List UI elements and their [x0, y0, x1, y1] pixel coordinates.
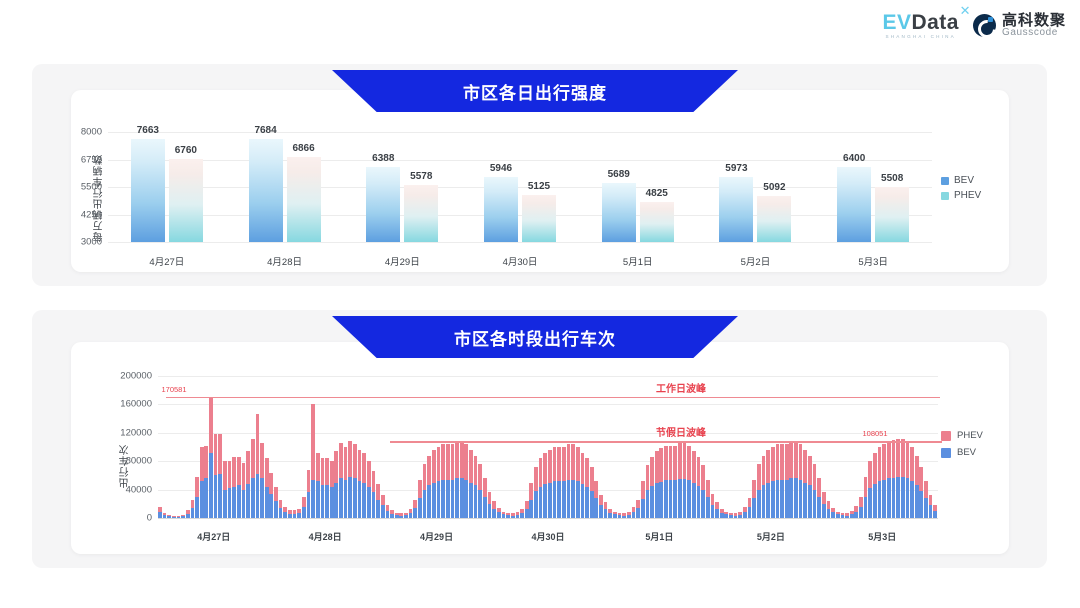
chart2-stacked-bar[interactable]: [878, 447, 882, 518]
chart2-segment-bev: [655, 483, 659, 518]
chart1-legend-item[interactable]: BEV: [941, 175, 981, 186]
chart2-segment-phev: [910, 447, 914, 481]
chart1-gridline: [108, 132, 932, 133]
chart2-stacked-bar[interactable]: [701, 465, 705, 518]
chart2-stacked-bar[interactable]: [204, 446, 208, 518]
chart2-segment-bev: [878, 481, 882, 518]
chart2-segment-phev: [474, 456, 478, 486]
chart2-stacked-bar[interactable]: [358, 450, 362, 518]
chart2-stacked-bar[interactable]: [836, 512, 840, 518]
chart2-stacked-bar[interactable]: [919, 467, 923, 518]
chart2-segment-bev: [571, 480, 575, 518]
chart2-stacked-bar[interactable]: [483, 478, 487, 518]
chart2-segment-bev: [246, 484, 250, 518]
chart1-y-tick: 4250: [62, 209, 102, 220]
chart2-stacked-bar[interactable]: [850, 511, 854, 518]
chart2-segment-bev: [288, 514, 292, 518]
chart2-stacked-bar[interactable]: [181, 515, 185, 518]
chart2-segment-phev: [873, 453, 877, 484]
chart1-bar-phev[interactable]: 6760: [169, 159, 203, 242]
chart2-segment-bev: [543, 484, 547, 518]
chart2-stacked-bar[interactable]: [423, 464, 427, 518]
chart2-stacked-bar[interactable]: [636, 500, 640, 518]
chart2-stacked-bar[interactable]: [269, 473, 273, 518]
chart2-segment-bev: [831, 512, 835, 518]
chart1-x-tick: 4月29日: [385, 254, 420, 268]
chart2-stacked-bar[interactable]: [334, 451, 338, 518]
chart2-stacked-bar[interactable]: [330, 461, 334, 518]
chart2-stacked-bar[interactable]: [864, 477, 868, 518]
chart2-stacked-bar[interactable]: [738, 512, 742, 518]
chart1-bar-phev[interactable]: 5578: [404, 185, 438, 242]
chart2-segment-phev: [214, 434, 218, 476]
chart2-segment-phev: [483, 478, 487, 496]
chart2-stacked-bar[interactable]: [451, 444, 455, 518]
chart2-stacked-bar[interactable]: [720, 509, 724, 518]
chart2-segment-bev: [539, 487, 543, 518]
chart1-bar-phev[interactable]: 5508: [875, 187, 909, 242]
chart2-stacked-bar[interactable]: [534, 467, 538, 518]
chart2-stacked-bar[interactable]: [399, 513, 403, 518]
chart2-segment-bev: [915, 485, 919, 518]
chart2-stacked-bar[interactable]: [460, 441, 464, 518]
chart1-bar-phev[interactable]: 4825: [640, 202, 674, 242]
chart2-stacked-bar[interactable]: [441, 444, 445, 518]
chart2-stacked-bar[interactable]: [808, 456, 812, 518]
chart2-stacked-bar[interactable]: [353, 444, 357, 518]
chart2-segment-phev: [706, 480, 710, 498]
chart2-stacked-bar[interactable]: [432, 450, 436, 518]
chart2-segment-phev: [664, 446, 668, 481]
chart2-stacked-bar[interactable]: [195, 477, 199, 518]
chart2-stacked-bar[interactable]: [613, 512, 617, 518]
chart2-stacked-bar[interactable]: [748, 498, 752, 518]
chart2-stacked-bar[interactable]: [469, 450, 473, 518]
chart2-stacked-bar[interactable]: [687, 446, 691, 518]
chart2-segment-phev: [887, 441, 891, 478]
chart2-stacked-bar[interactable]: [567, 444, 571, 518]
chart2-stacked-bar[interactable]: [307, 470, 311, 518]
chart2-stacked-bar[interactable]: [581, 453, 585, 518]
chart2-segment-phev: [437, 447, 441, 481]
chart2-stacked-bar[interactable]: [506, 513, 510, 518]
chart2-stacked-bar[interactable]: [780, 444, 784, 518]
chart2-stacked-bar[interactable]: [209, 397, 213, 518]
chart2-segment-bev: [334, 483, 338, 519]
chart2-segment-bev: [395, 515, 399, 518]
gausscode-name-en: Gausscode: [1002, 28, 1066, 39]
chart2-stacked-bar[interactable]: [766, 450, 770, 518]
chart2-segment-bev: [446, 480, 450, 518]
chart2-segment-phev: [539, 458, 543, 486]
chart2-stacked-bar[interactable]: [427, 456, 431, 518]
chart2-stacked-bar[interactable]: [529, 483, 533, 519]
chart2-stacked-bar[interactable]: [404, 513, 408, 518]
chart2-stacked-bar[interactable]: [283, 507, 287, 518]
chart2-stacked-bar[interactable]: [492, 501, 496, 518]
chart2-stacked-bar[interactable]: [785, 444, 789, 518]
chart2-segment-bev: [437, 481, 441, 518]
chart2-x-tick: 5月1日: [645, 530, 673, 543]
chart2-segment-phev: [590, 467, 594, 491]
chart2-stacked-bar[interactable]: [678, 443, 682, 518]
chart2-stacked-bar[interactable]: [497, 508, 501, 518]
chart2-stacked-bar[interactable]: [376, 484, 380, 518]
chart1-bar-value: 5508: [881, 173, 903, 184]
chart2-stacked-bar[interactable]: [511, 513, 515, 518]
chart1-bar-bev[interactable]: 5973: [719, 177, 753, 242]
chart2-stacked-bar[interactable]: [590, 467, 594, 518]
chart2-stacked-bar[interactable]: [896, 438, 900, 518]
chart2-stacked-bar[interactable]: [771, 447, 775, 518]
chart2-segment-phev: [204, 446, 208, 479]
chart2-segment-bev: [460, 478, 464, 518]
chart2-stacked-bar[interactable]: [813, 464, 817, 518]
evdata-suffix: Data: [911, 11, 959, 34]
chart2-segment-phev: [636, 500, 640, 509]
chart2-stacked-bar[interactable]: [650, 457, 654, 518]
chart2-segment-bev: [492, 509, 496, 518]
chart1-bar-phev[interactable]: 5125: [522, 195, 556, 242]
chart2-stacked-bar[interactable]: [279, 500, 283, 518]
chart2-segment-bev: [358, 481, 362, 518]
chart2-stacked-bar[interactable]: [933, 505, 937, 518]
chart2-stacked-bar[interactable]: [260, 443, 264, 518]
chart2-stacked-bar[interactable]: [683, 443, 687, 518]
chart2-stacked-bar[interactable]: [158, 507, 162, 518]
chart2-stacked-bar[interactable]: [915, 456, 919, 518]
chart2-stacked-bar[interactable]: [409, 509, 413, 518]
chart2-segment-phev: [562, 447, 566, 481]
chart1-bar-bev[interactable]: 7684: [249, 139, 283, 242]
chart2-stacked-bar[interactable]: [177, 516, 181, 518]
chart2-stacked-bar[interactable]: [367, 461, 371, 518]
chart2-segment-phev: [330, 461, 334, 487]
chart2-segment-bev: [557, 481, 561, 518]
chart2-stacked-bar[interactable]: [882, 444, 886, 518]
chart2-segment-phev: [794, 441, 798, 478]
chart2-x-tick: 5月3日: [868, 530, 896, 543]
chart2-stacked-bar[interactable]: [715, 502, 719, 518]
chart2-stacked-bar[interactable]: [223, 461, 227, 518]
chart2-stacked-bar[interactable]: [571, 444, 575, 518]
chart2-segment-bev: [608, 513, 612, 518]
chart2-segment-bev: [618, 515, 622, 518]
chart2-segment-bev: [325, 485, 329, 518]
chart2-stacked-bar[interactable]: [873, 453, 877, 518]
chart2-stacked-bar[interactable]: [646, 465, 650, 518]
chart2-stacked-bar[interactable]: [706, 480, 710, 518]
chart2-stacked-bar[interactable]: [789, 441, 793, 518]
chart2-stacked-bar[interactable]: [655, 451, 659, 518]
chart1-bar-phev[interactable]: 5092: [757, 196, 791, 242]
chart2-stacked-bar[interactable]: [395, 513, 399, 518]
chart2-segment-bev: [167, 516, 171, 518]
chart2-stacked-bar[interactable]: [362, 453, 366, 518]
chart2-segment-phev: [543, 453, 547, 484]
chart2-stacked-bar[interactable]: [664, 446, 668, 518]
chart2-stacked-bar[interactable]: [887, 441, 891, 518]
chart2-stacked-bar[interactable]: [576, 447, 580, 518]
chart2-stacked-bar[interactable]: [757, 464, 761, 518]
chart2-stacked-bar[interactable]: [543, 453, 547, 518]
chart2-stacked-bar[interactable]: [186, 510, 190, 518]
chart2-stacked-bar[interactable]: [892, 440, 896, 518]
chart2-stacked-bar[interactable]: [218, 434, 222, 518]
chart2-segment-bev: [283, 512, 287, 518]
chart2-stacked-bar[interactable]: [251, 438, 255, 518]
chart2-stacked-bar[interactable]: [673, 446, 677, 518]
chart2-segment-bev: [859, 507, 863, 518]
chart2-segment-bev: [901, 477, 905, 518]
chart2-segment-bev: [594, 498, 598, 518]
chart2-segment-phev: [334, 451, 338, 482]
chart2-segment-bev: [186, 514, 190, 518]
chart2-segment-bev: [906, 478, 910, 518]
chart2-stacked-bar[interactable]: [297, 509, 301, 518]
chart2-stacked-bar[interactable]: [293, 510, 297, 518]
chart2-legend-item[interactable]: PHEV: [941, 430, 983, 441]
chart1-gridline: [108, 160, 932, 161]
chart2-segment-phev: [604, 502, 608, 509]
chart1-legend-swatch: [941, 192, 949, 200]
chart2-stacked-bar[interactable]: [191, 500, 195, 518]
chart2-stacked-bar[interactable]: [311, 404, 315, 518]
chart2-segment-bev: [817, 497, 821, 518]
chart2-segment-bev: [766, 483, 770, 519]
chart2-stacked-bar[interactable]: [474, 456, 478, 518]
chart2-stacked-bar[interactable]: [734, 513, 738, 518]
chart2-segment-bev: [204, 478, 208, 518]
chart2-holiday-peak-label: 节假日波峰: [656, 424, 706, 439]
chart2-segment-phev: [553, 447, 557, 481]
chart2-stacked-bar[interactable]: [859, 497, 863, 518]
chart2-stacked-bar[interactable]: [553, 447, 557, 518]
chart2-stacked-bar[interactable]: [386, 505, 390, 518]
chart2-segment-phev: [223, 461, 227, 489]
chart2-segment-phev: [683, 443, 687, 479]
chart2-segment-phev: [650, 457, 654, 486]
chart2-stacked-bar[interactable]: [167, 515, 171, 518]
chart2-stacked-bar[interactable]: [831, 508, 835, 518]
chart2-segment-phev: [599, 495, 603, 505]
chart1-bar-value: 4825: [646, 188, 668, 199]
chart2-segment-bev: [451, 480, 455, 518]
chart2-segment-bev: [641, 499, 645, 518]
chart1-bar-bev[interactable]: 5946: [484, 177, 518, 242]
chart2-stacked-bar[interactable]: [288, 510, 292, 518]
chart2-stacked-bar[interactable]: [228, 461, 232, 518]
chart2-segment-bev: [311, 480, 315, 518]
chart2-segment-bev: [604, 509, 608, 518]
chart2-segment-bev: [771, 481, 775, 518]
chart2-stacked-bar[interactable]: [464, 444, 468, 518]
chart2-stacked-bar[interactable]: [622, 513, 626, 518]
chart2-stacked-bar[interactable]: [265, 458, 269, 518]
chart2-segment-phev: [348, 441, 352, 477]
chart2-stacked-bar[interactable]: [325, 458, 329, 518]
chart2-segment-phev: [687, 446, 691, 481]
chart1-bar-bev[interactable]: 6400: [837, 167, 871, 242]
chart2-stacked-bar[interactable]: [803, 450, 807, 518]
chart2-stacked-bar[interactable]: [390, 510, 394, 518]
chart2-stacked-bar[interactable]: [608, 509, 612, 518]
chart1-bar-bev[interactable]: 5689: [602, 183, 636, 242]
chart2-stacked-bar[interactable]: [822, 492, 826, 518]
chart2-segment-bev: [478, 490, 482, 518]
chart2-stacked-bar[interactable]: [743, 507, 747, 518]
chart2-segment-bev: [808, 485, 812, 518]
chart2-stacked-bar[interactable]: [594, 481, 598, 518]
chart2-stacked-bar[interactable]: [799, 444, 803, 518]
chart1-bar-bev[interactable]: 6388: [366, 167, 400, 242]
chart2-stacked-bar[interactable]: [214, 434, 218, 518]
chart2-segment-bev: [529, 500, 533, 518]
chart2-stacked-bar[interactable]: [256, 414, 260, 518]
chart2-stacked-bar[interactable]: [525, 501, 529, 518]
chart2-segment-bev: [734, 516, 738, 518]
chart2-stacked-bar[interactable]: [641, 481, 645, 518]
gausscode-text: 高科数聚 Gausscode: [1002, 13, 1066, 39]
chart2-stacked-bar[interactable]: [344, 447, 348, 518]
chart2-stacked-bar[interactable]: [478, 464, 482, 518]
chart2-stacked-bar[interactable]: [302, 497, 306, 518]
chart2-stacked-bar[interactable]: [669, 446, 673, 518]
chart2-segment-bev: [910, 481, 914, 518]
chart2-stacked-bar[interactable]: [924, 481, 928, 518]
chart2-stacked-bar[interactable]: [599, 495, 603, 518]
chart2-segment-bev: [567, 480, 571, 518]
chart2-segment-phev: [678, 443, 682, 479]
chart2-segment-phev: [771, 447, 775, 481]
chart2-stacked-bar[interactable]: [381, 495, 385, 518]
chart2-segment-phev: [803, 450, 807, 483]
chart2-stacked-bar[interactable]: [548, 450, 552, 518]
chart2-stacked-bar[interactable]: [339, 443, 343, 518]
chart2-stacked-bar[interactable]: [711, 494, 715, 518]
chart2-segment-phev: [423, 464, 427, 490]
chart2-stacked-bar[interactable]: [762, 456, 766, 518]
chart2-stacked-bar[interactable]: [163, 513, 167, 518]
chart1-gridline: [108, 242, 932, 243]
chart2-segment-phev: [321, 458, 325, 485]
chart2-stacked-bar[interactable]: [488, 492, 492, 518]
chart2-stacked-bar[interactable]: [697, 457, 701, 518]
chart2-segment-bev: [195, 497, 199, 518]
chart2-segment-bev: [650, 486, 654, 518]
chart2-stacked-bar[interactable]: [418, 480, 422, 518]
chart2-segment-phev: [376, 484, 380, 500]
chart2-segment-bev: [780, 480, 784, 518]
chart2-stacked-bar[interactable]: [455, 441, 459, 518]
chart2-stacked-bar[interactable]: [562, 447, 566, 518]
chart2-segment-bev: [678, 479, 682, 518]
chart2-segment-phev: [381, 495, 385, 506]
chart2-stacked-bar[interactable]: [516, 512, 520, 518]
chart2-segment-bev: [715, 509, 719, 518]
chart2-segment-phev: [859, 497, 863, 507]
chart2-stacked-bar[interactable]: [929, 495, 933, 518]
chart2-stacked-bar[interactable]: [729, 513, 733, 518]
chart2-stacked-bar[interactable]: [659, 448, 663, 518]
brand-bar: EVData✕ SHANGHAI CHINA 高科数聚 Gausscode: [882, 12, 1066, 40]
chart2-y-tick: 0: [104, 513, 152, 524]
chart2-stacked-bar[interactable]: [321, 458, 325, 518]
chart2-stacked-bar[interactable]: [446, 444, 450, 518]
chart1-bar-phev[interactable]: 6866: [287, 157, 321, 242]
chart2-stacked-bar[interactable]: [413, 500, 417, 518]
chart2-stacked-bar[interactable]: [520, 509, 524, 518]
chart2-segment-phev: [307, 470, 311, 493]
chart2-segment-bev: [158, 512, 162, 518]
chart1-bar-bev[interactable]: 7663: [131, 139, 165, 242]
chart2-y-axis-label: 出行车次: [118, 410, 133, 488]
chart2-stacked-bar[interactable]: [868, 461, 872, 518]
chart2-stacked-bar[interactable]: [372, 471, 376, 518]
chart2-stacked-bar[interactable]: [200, 447, 204, 518]
chart2-stacked-bar[interactable]: [841, 513, 845, 518]
chart2-stacked-bar[interactable]: [632, 507, 636, 518]
chart2-segment-phev: [451, 444, 455, 480]
chart2-y-tick: 40000: [104, 484, 152, 495]
chart2-stacked-bar[interactable]: [437, 447, 441, 518]
chart2-stacked-bar[interactable]: [348, 441, 352, 518]
chart2-stacked-bar[interactable]: [618, 513, 622, 518]
chart2-stacked-bar[interactable]: [242, 463, 246, 518]
chart2-stacked-bar[interactable]: [585, 458, 589, 518]
evdata-x-icon: ✕: [960, 4, 971, 17]
chart2-stacked-bar[interactable]: [627, 512, 631, 518]
chart2-legend-item[interactable]: BEV: [941, 447, 983, 458]
chart2-stacked-bar[interactable]: [539, 458, 543, 518]
chart2-stacked-bar[interactable]: [901, 438, 905, 518]
chart1-legend-item[interactable]: PHEV: [941, 190, 981, 201]
chart1-bar-group: 59465125: [484, 177, 556, 242]
chart2-stacked-bar[interactable]: [854, 506, 858, 518]
chart2-stacked-bar[interactable]: [817, 478, 821, 518]
chart2-stacked-bar[interactable]: [502, 512, 506, 518]
chart2-stacked-bar[interactable]: [724, 512, 728, 518]
chart2-stacked-bar[interactable]: [845, 513, 849, 518]
chart2-segment-phev: [195, 477, 199, 497]
chart2-segment-phev: [901, 439, 905, 477]
chart2-segment-bev: [720, 513, 724, 518]
chart2-segment-bev: [441, 480, 445, 518]
chart2-stacked-bar[interactable]: [604, 502, 608, 518]
chart2-stacked-bar[interactable]: [246, 451, 250, 518]
chart2-segment-phev: [492, 501, 496, 509]
chart2-stacked-bar[interactable]: [752, 480, 756, 518]
chart2-stacked-bar[interactable]: [237, 457, 241, 518]
chart2-stacked-bar[interactable]: [906, 441, 910, 518]
chart2-stacked-bar[interactable]: [557, 447, 561, 518]
chart2-segment-phev: [748, 498, 752, 507]
chart2-stacked-bar[interactable]: [232, 457, 236, 518]
chart2-segment-bev: [488, 504, 492, 518]
chart2-stacked-bar[interactable]: [692, 451, 696, 518]
chart2-stacked-bar[interactable]: [316, 453, 320, 518]
chart2-stacked-bar[interactable]: [910, 447, 914, 518]
chart2-stacked-bar[interactable]: [794, 441, 798, 518]
chart2-segment-bev: [251, 478, 255, 518]
chart2-stacked-bar[interactable]: [172, 516, 176, 518]
chart2-stacked-bar[interactable]: [776, 444, 780, 518]
chart2-stacked-bar[interactable]: [274, 487, 278, 518]
chart2-segment-bev: [423, 490, 427, 518]
chart2-segment-bev: [367, 487, 371, 518]
chart2-stacked-bar[interactable]: [827, 501, 831, 518]
chart2-segment-bev: [813, 490, 817, 518]
